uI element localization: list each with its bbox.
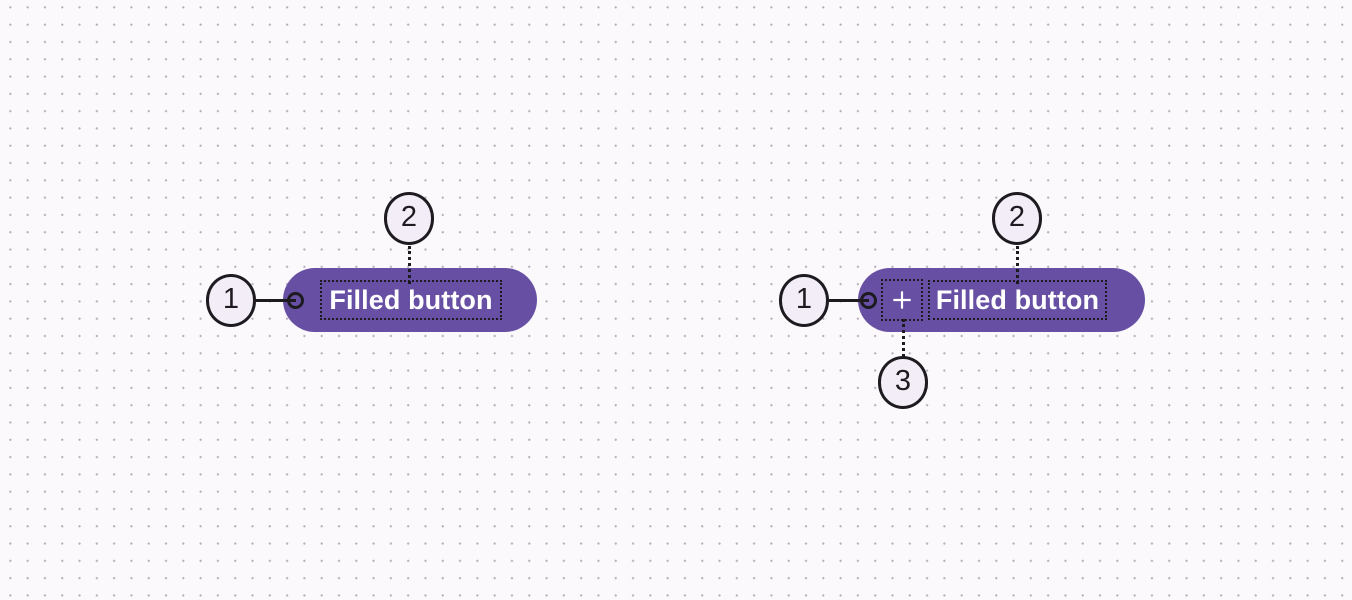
leader-line-2: [408, 246, 411, 284]
anchor-point-1-b: [860, 292, 877, 309]
filled-button-with-icon-label: Filled button: [930, 282, 1105, 318]
annotation-badge-1: 1: [206, 274, 256, 327]
filled-button-label: Filled button: [322, 282, 500, 318]
annotation-badge-2-b: 2: [992, 192, 1042, 245]
anchor-point-1: [287, 292, 304, 309]
leader-line-3: [902, 319, 905, 357]
anatomy-canvas: Filled button 1 2 Filled button 1: [0, 0, 1352, 600]
annotation-badge-3-number: 3: [895, 367, 911, 396]
annotation-badge-1-b: 1: [779, 274, 829, 327]
plus-icon: [883, 281, 921, 319]
annotation-badge-2-b-number: 2: [1009, 203, 1025, 232]
annotation-badge-3: 3: [878, 356, 928, 409]
annotation-badge-1-number: 1: [223, 285, 239, 314]
annotation-badge-2-number: 2: [401, 203, 417, 232]
leader-line-2-b: [1016, 246, 1019, 284]
annotation-badge-2: 2: [384, 192, 434, 245]
annotation-badge-1-b-number: 1: [796, 285, 812, 314]
